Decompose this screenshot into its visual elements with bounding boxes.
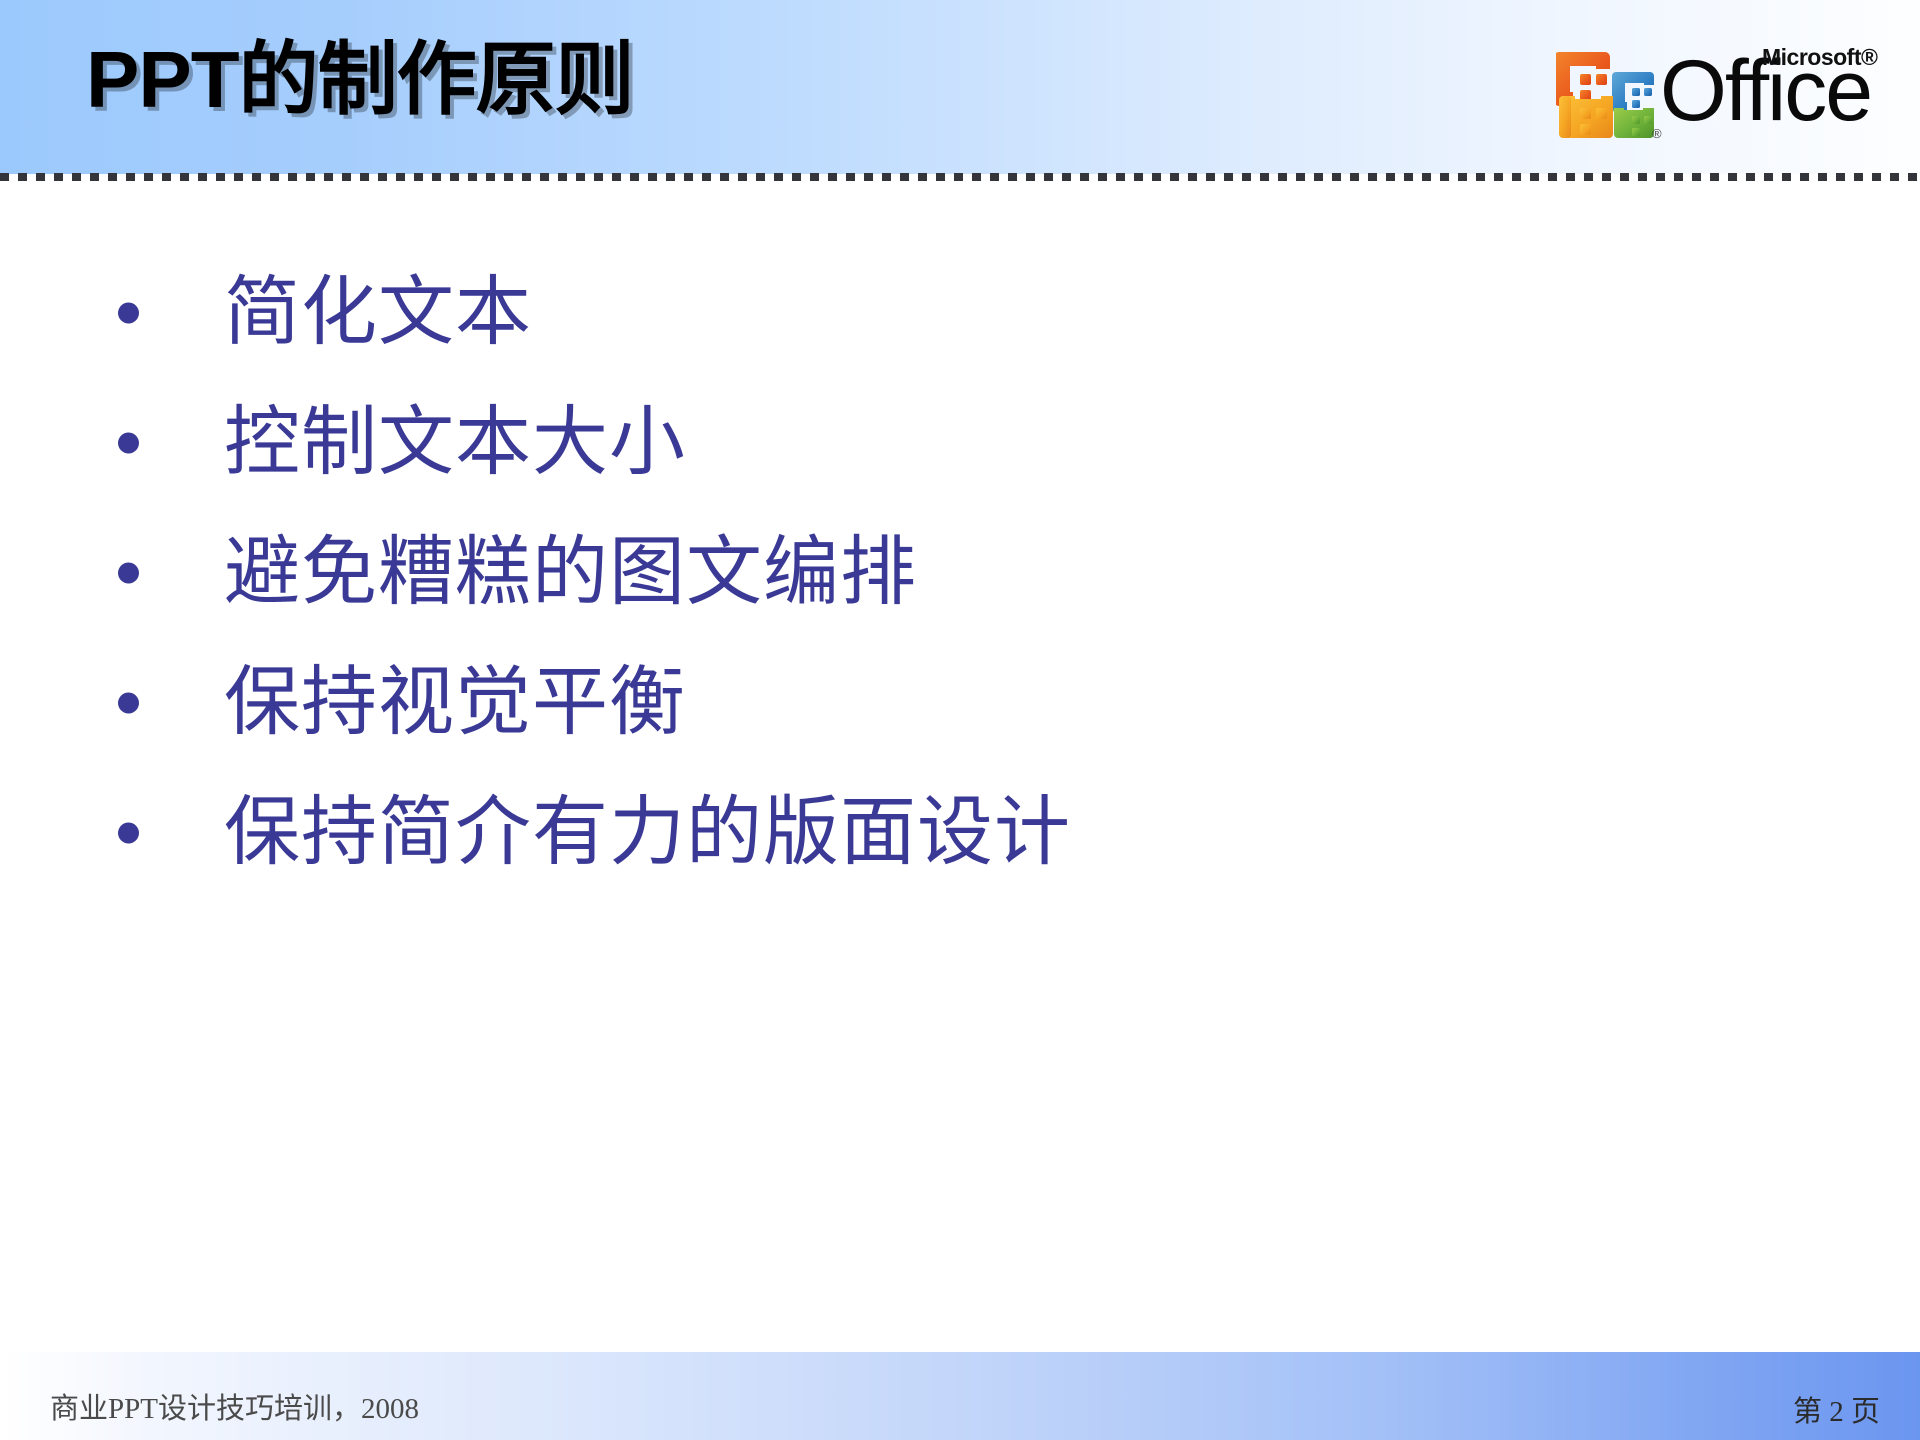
microsoft-office-logo: ® Office Microsoft®: [1556, 42, 1906, 146]
bullet-dot-icon: [118, 693, 139, 714]
bullet-dot-icon: [118, 303, 139, 324]
bullet-dot-icon: [118, 823, 139, 844]
footer-course-label: 商业PPT设计技巧培训，2008: [50, 1385, 419, 1427]
list-item: 避免糟糕的图文编排: [0, 508, 1920, 638]
page-title: PPT的制作原则: [86, 38, 634, 122]
list-item: 保持简介有力的版面设计: [0, 768, 1920, 898]
logo-microsoft-wordmark: Microsoft®: [1762, 44, 1877, 71]
list-item: 保持视觉平衡: [0, 638, 1920, 768]
bullet-item-label: 控制文本大小: [224, 402, 686, 484]
bullet-item-label: 简化文本: [224, 272, 532, 354]
bullet-dot-icon: [118, 433, 139, 454]
office-logo-squares-icon: [1556, 50, 1664, 142]
list-item: 简化文本: [0, 248, 1920, 378]
header-dashed-divider: [0, 173, 1920, 181]
page-number: 第 2 页: [1793, 1388, 1880, 1430]
bullet-item-label: 保持简介有力的版面设计: [224, 792, 1071, 874]
bullet-item-label: 保持视觉平衡: [224, 662, 686, 744]
bullet-dot-icon: [118, 563, 139, 584]
bullet-item-label: 避免糟糕的图文编排: [224, 532, 917, 614]
list-item: 控制文本大小: [0, 378, 1920, 508]
bullet-list: 简化文本 控制文本大小 避免糟糕的图文编排 保持视觉平衡 保持简介有力的版面设计: [0, 248, 1920, 898]
presentation-slide: PPT的制作原则: [0, 0, 1920, 1440]
